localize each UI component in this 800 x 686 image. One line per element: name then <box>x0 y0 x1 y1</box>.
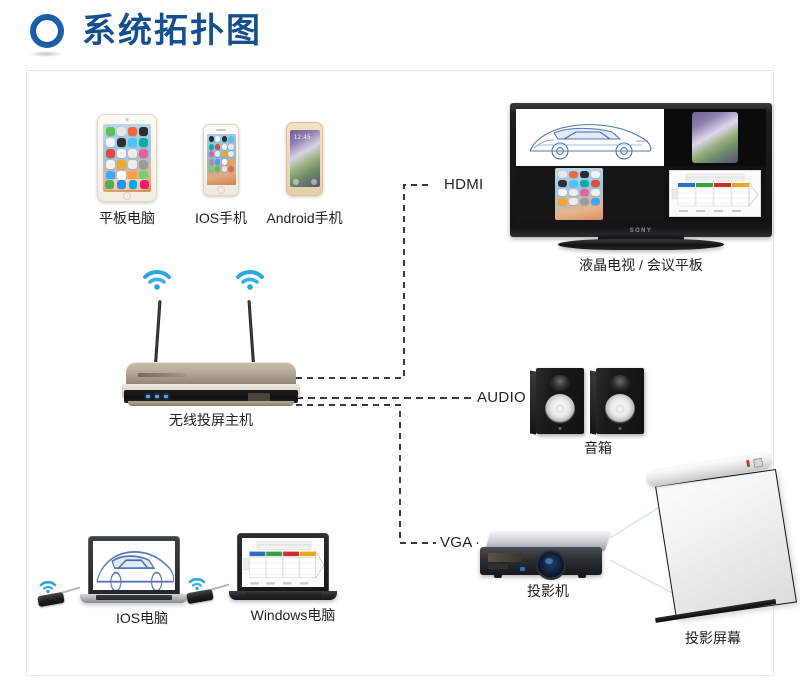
lcd-tv-device: SONY <box>510 103 772 237</box>
connection-label-hdmi: HDMI <box>440 176 488 193</box>
tv-screen <box>516 109 766 222</box>
windows-screen <box>242 538 324 587</box>
android-lock-icon <box>311 179 317 185</box>
app-icon <box>215 166 220 172</box>
app-icon <box>117 160 126 169</box>
app-icon <box>209 136 214 142</box>
speaker-power-led <box>619 427 622 430</box>
node-projection-screen[interactable]: 投影屏幕 <box>647 466 793 646</box>
app-icon <box>209 144 214 150</box>
screen-indicator-led <box>746 460 750 467</box>
tv-stand <box>558 239 724 250</box>
app-icon <box>215 144 220 150</box>
app-icon <box>128 127 137 136</box>
node-tablet[interactable]: 平板电脑 <box>97 114 157 202</box>
app-icon <box>209 151 214 157</box>
app-icon <box>215 159 220 165</box>
tv-quadrant-tablet-cast <box>516 166 664 222</box>
android-clock-display: 12:45 <box>294 134 311 141</box>
screen-control-button[interactable] <box>753 458 763 468</box>
node-label-projection-screen: 投影屏幕 <box>685 628 741 648</box>
connection-label-vga: VGA <box>436 534 477 551</box>
app-icon <box>228 151 233 157</box>
app-icon <box>222 151 227 157</box>
app-icon <box>106 149 115 158</box>
app-icon <box>215 151 220 157</box>
node-windows-laptop[interactable]: Windows电脑 <box>237 533 349 605</box>
node-label-tablet: 平板电脑 <box>99 208 155 228</box>
node-projector[interactable]: 投影机 <box>478 527 610 599</box>
dock-icon <box>129 180 138 189</box>
wifi-signal-icon <box>188 577 206 590</box>
tweeter-icon <box>550 375 570 391</box>
app-icon <box>558 189 567 196</box>
iphone-home-button <box>217 186 225 194</box>
page-header: 系统拓扑图 <box>0 0 800 70</box>
app-icon <box>558 180 567 187</box>
app-icon <box>139 127 148 136</box>
node-label-router: 无线投屏主机 <box>169 410 253 430</box>
node-iphone[interactable]: IOS手机 <box>203 124 239 196</box>
wifi-dongle-windows[interactable] <box>187 577 231 607</box>
iphone-device <box>203 124 239 196</box>
node-label-projector: 投影机 <box>527 581 569 601</box>
android-phone-screen: 12:45 <box>290 130 320 187</box>
app-icon <box>117 127 126 136</box>
app-icon <box>209 166 214 172</box>
projector-indicator <box>520 567 525 571</box>
node-label-windows: Windows电脑 <box>251 605 336 625</box>
app-icon <box>117 138 126 147</box>
router-top-shell <box>126 362 296 386</box>
woofer-icon <box>545 394 575 424</box>
speaker-left <box>536 368 584 434</box>
speaker-power-led <box>559 427 562 430</box>
tablet-device <box>97 114 157 202</box>
app-icon <box>139 160 148 169</box>
wifi-dongle-mac[interactable] <box>38 580 82 610</box>
app-icon <box>580 171 589 178</box>
tablet-home-button <box>123 192 131 200</box>
app-icon <box>209 159 214 165</box>
app-icon <box>228 136 233 142</box>
projector-ports <box>488 553 522 562</box>
tv-quadrant-car-sketch <box>516 109 664 166</box>
app-icon <box>580 198 589 205</box>
woofer-icon <box>605 394 635 424</box>
tablet-camera-icon <box>126 118 129 121</box>
chart-cast-thumbnail <box>669 170 761 217</box>
app-icon <box>128 160 137 169</box>
android-bottom-buttons <box>293 179 317 185</box>
router-base <box>128 401 294 406</box>
mac-screen <box>93 541 175 590</box>
dock-icon <box>105 180 114 189</box>
app-icon <box>228 159 233 165</box>
node-label-mac: IOS电脑 <box>116 608 168 628</box>
app-icon <box>569 189 578 196</box>
app-icon <box>569 180 578 187</box>
app-icon <box>569 198 578 205</box>
app-icon <box>106 160 115 169</box>
app-icon <box>222 159 227 165</box>
app-icon <box>128 149 137 158</box>
wifi-signal-icon <box>39 580 57 593</box>
app-icon <box>222 144 227 150</box>
node-label-iphone: IOS手机 <box>195 208 247 228</box>
node-label-speakers: 音箱 <box>584 438 612 458</box>
node-speakers[interactable]: 音箱 <box>536 364 646 452</box>
app-icon <box>591 189 600 196</box>
projector-lens-icon <box>538 552 564 578</box>
wireless-router-device <box>122 362 300 406</box>
app-icon <box>591 198 600 205</box>
app-icon <box>558 171 567 178</box>
tablet-cast-thumbnail <box>555 168 603 220</box>
node-label-android: Android手机 <box>266 208 342 228</box>
tweeter-icon <box>610 375 630 391</box>
speaker-right <box>596 368 644 434</box>
dock-icon <box>140 180 149 189</box>
router-port <box>248 393 270 401</box>
android-phone-device: 12:45 <box>286 122 323 196</box>
node-mac-laptop[interactable]: IOS电脑 <box>88 536 196 606</box>
macbook-laptop-device <box>88 536 180 596</box>
node-router[interactable]: 无线投屏主机 <box>122 258 300 408</box>
app-icon <box>106 127 115 136</box>
tablet-screen <box>103 124 151 192</box>
tv-quadrant-chart-cast <box>664 166 766 222</box>
app-icon <box>106 138 115 147</box>
app-icon <box>591 180 600 187</box>
app-icon <box>215 136 220 142</box>
app-icon <box>117 149 126 158</box>
app-icon <box>228 166 233 172</box>
projector-ports-secondary <box>488 564 508 569</box>
router-led-indicators <box>146 395 168 398</box>
android-camera-icon <box>293 179 299 185</box>
iphone-screen <box>207 134 236 185</box>
wifi-signal-icon <box>235 268 265 290</box>
connection-label-audio: AUDIO <box>473 389 530 406</box>
app-icon <box>228 144 233 150</box>
app-icon <box>222 166 227 172</box>
iphone-speaker-icon <box>216 129 226 131</box>
android-cast-thumbnail <box>692 112 738 163</box>
app-icon <box>139 138 148 147</box>
topology-diagram-page: 系统拓扑图 HDMI AUDIO VGA 平板电脑 <box>0 0 800 686</box>
app-icon <box>569 171 578 178</box>
blue-ring-icon <box>30 14 64 48</box>
app-icon <box>591 171 600 178</box>
wifi-signal-icon <box>142 268 172 290</box>
app-icon <box>139 149 148 158</box>
windows-laptop-device <box>237 533 329 593</box>
screen-surface <box>655 469 797 619</box>
mac-keyboard[interactable] <box>96 595 172 600</box>
node-tv[interactable]: SONY 液晶电视 / 会议平板 <box>510 103 772 263</box>
app-icon <box>128 138 137 147</box>
page-title: 系统拓扑图 <box>82 10 262 52</box>
node-label-tv: 液晶电视 / 会议平板 <box>579 255 703 275</box>
app-icon <box>558 198 567 205</box>
dock-icon <box>117 180 126 189</box>
node-android-phone[interactable]: 12:45 Android手机 <box>286 122 323 196</box>
app-icon <box>580 180 589 187</box>
app-icon <box>580 189 589 196</box>
app-icon <box>222 136 227 142</box>
tv-quadrant-android-cast <box>664 109 766 166</box>
windows-keyboard[interactable] <box>245 592 321 597</box>
